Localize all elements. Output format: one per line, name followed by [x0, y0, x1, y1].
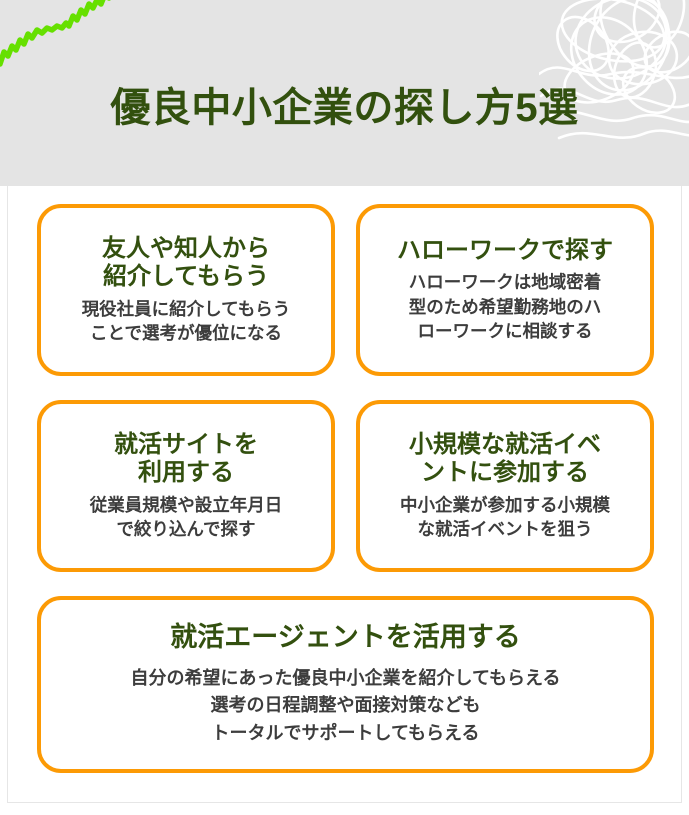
card-row-3: 就活エージェントを活用する 自分の希望にあった優良中小企業を紹介してもらえる 選…: [37, 596, 654, 773]
panel-footer-spacer: [0, 803, 689, 815]
method-card-5-body: 自分の希望にあった優良中小企業を紹介してもらえる 選考の日程調整や面接対策なども…: [130, 665, 560, 747]
method-card-2-body: ハローワークは地域密着 型のため希望勤務地のハ ローワークに相談する: [409, 270, 602, 342]
method-card-4-body: 中小企業が参加する小規模 な就活イベントを狙う: [400, 493, 610, 541]
method-card-1[interactable]: 友人や知人から 紹介してもらう 現役社員に紹介してもらう ことで選考が優位になる: [37, 204, 335, 376]
header-band: 優良中小企業の探し方5選: [0, 0, 689, 186]
method-card-2[interactable]: ハローワークで探す ハローワークは地域密着 型のため希望勤務地のハ ローワークに…: [356, 204, 654, 376]
method-card-4[interactable]: 小規模な就活イベ ントに参加する 中小企業が参加する小規模 な就活イベントを狙う: [356, 400, 654, 572]
method-card-2-title: ハローワークで探す: [397, 237, 613, 265]
method-card-3-body: 従業員規模や設立年月日 で絞り込んで探す: [90, 493, 283, 541]
infographic-page: 優良中小企業の探し方5選 友人や知人から 紹介してもらう 現役社員に紹介してもら…: [0, 0, 689, 815]
method-card-1-title: 友人や知人から 紹介してもらう: [102, 235, 270, 292]
page-title: 優良中小企業の探し方5選: [0, 0, 689, 186]
method-card-4-title: 小規模な就活イベ ントに参加する: [409, 431, 601, 488]
method-card-3[interactable]: 就活サイトを 利用する 従業員規模や設立年月日 で絞り込んで探す: [37, 400, 335, 572]
method-card-3-title: 就活サイトを 利用する: [114, 431, 258, 488]
card-row-2: 就活サイトを 利用する 従業員規模や設立年月日 で絞り込んで探す 小規模な就活イ…: [37, 400, 654, 572]
method-card-5-title: 就活エージェントを活用する: [170, 622, 520, 654]
content-panel: 友人や知人から 紹介してもらう 現役社員に紹介してもらう ことで選考が優位になる…: [7, 186, 682, 803]
card-row-1: 友人や知人から 紹介してもらう 現役社員に紹介してもらう ことで選考が優位になる…: [37, 204, 654, 376]
method-card-5[interactable]: 就活エージェントを活用する 自分の希望にあった優良中小企業を紹介してもらえる 選…: [37, 596, 654, 773]
method-card-1-body: 現役社員に紹介してもらう ことで選考が優位になる: [82, 297, 291, 345]
card-grid: 友人や知人から 紹介してもらう 現役社員に紹介してもらう ことで選考が優位になる…: [37, 204, 654, 797]
